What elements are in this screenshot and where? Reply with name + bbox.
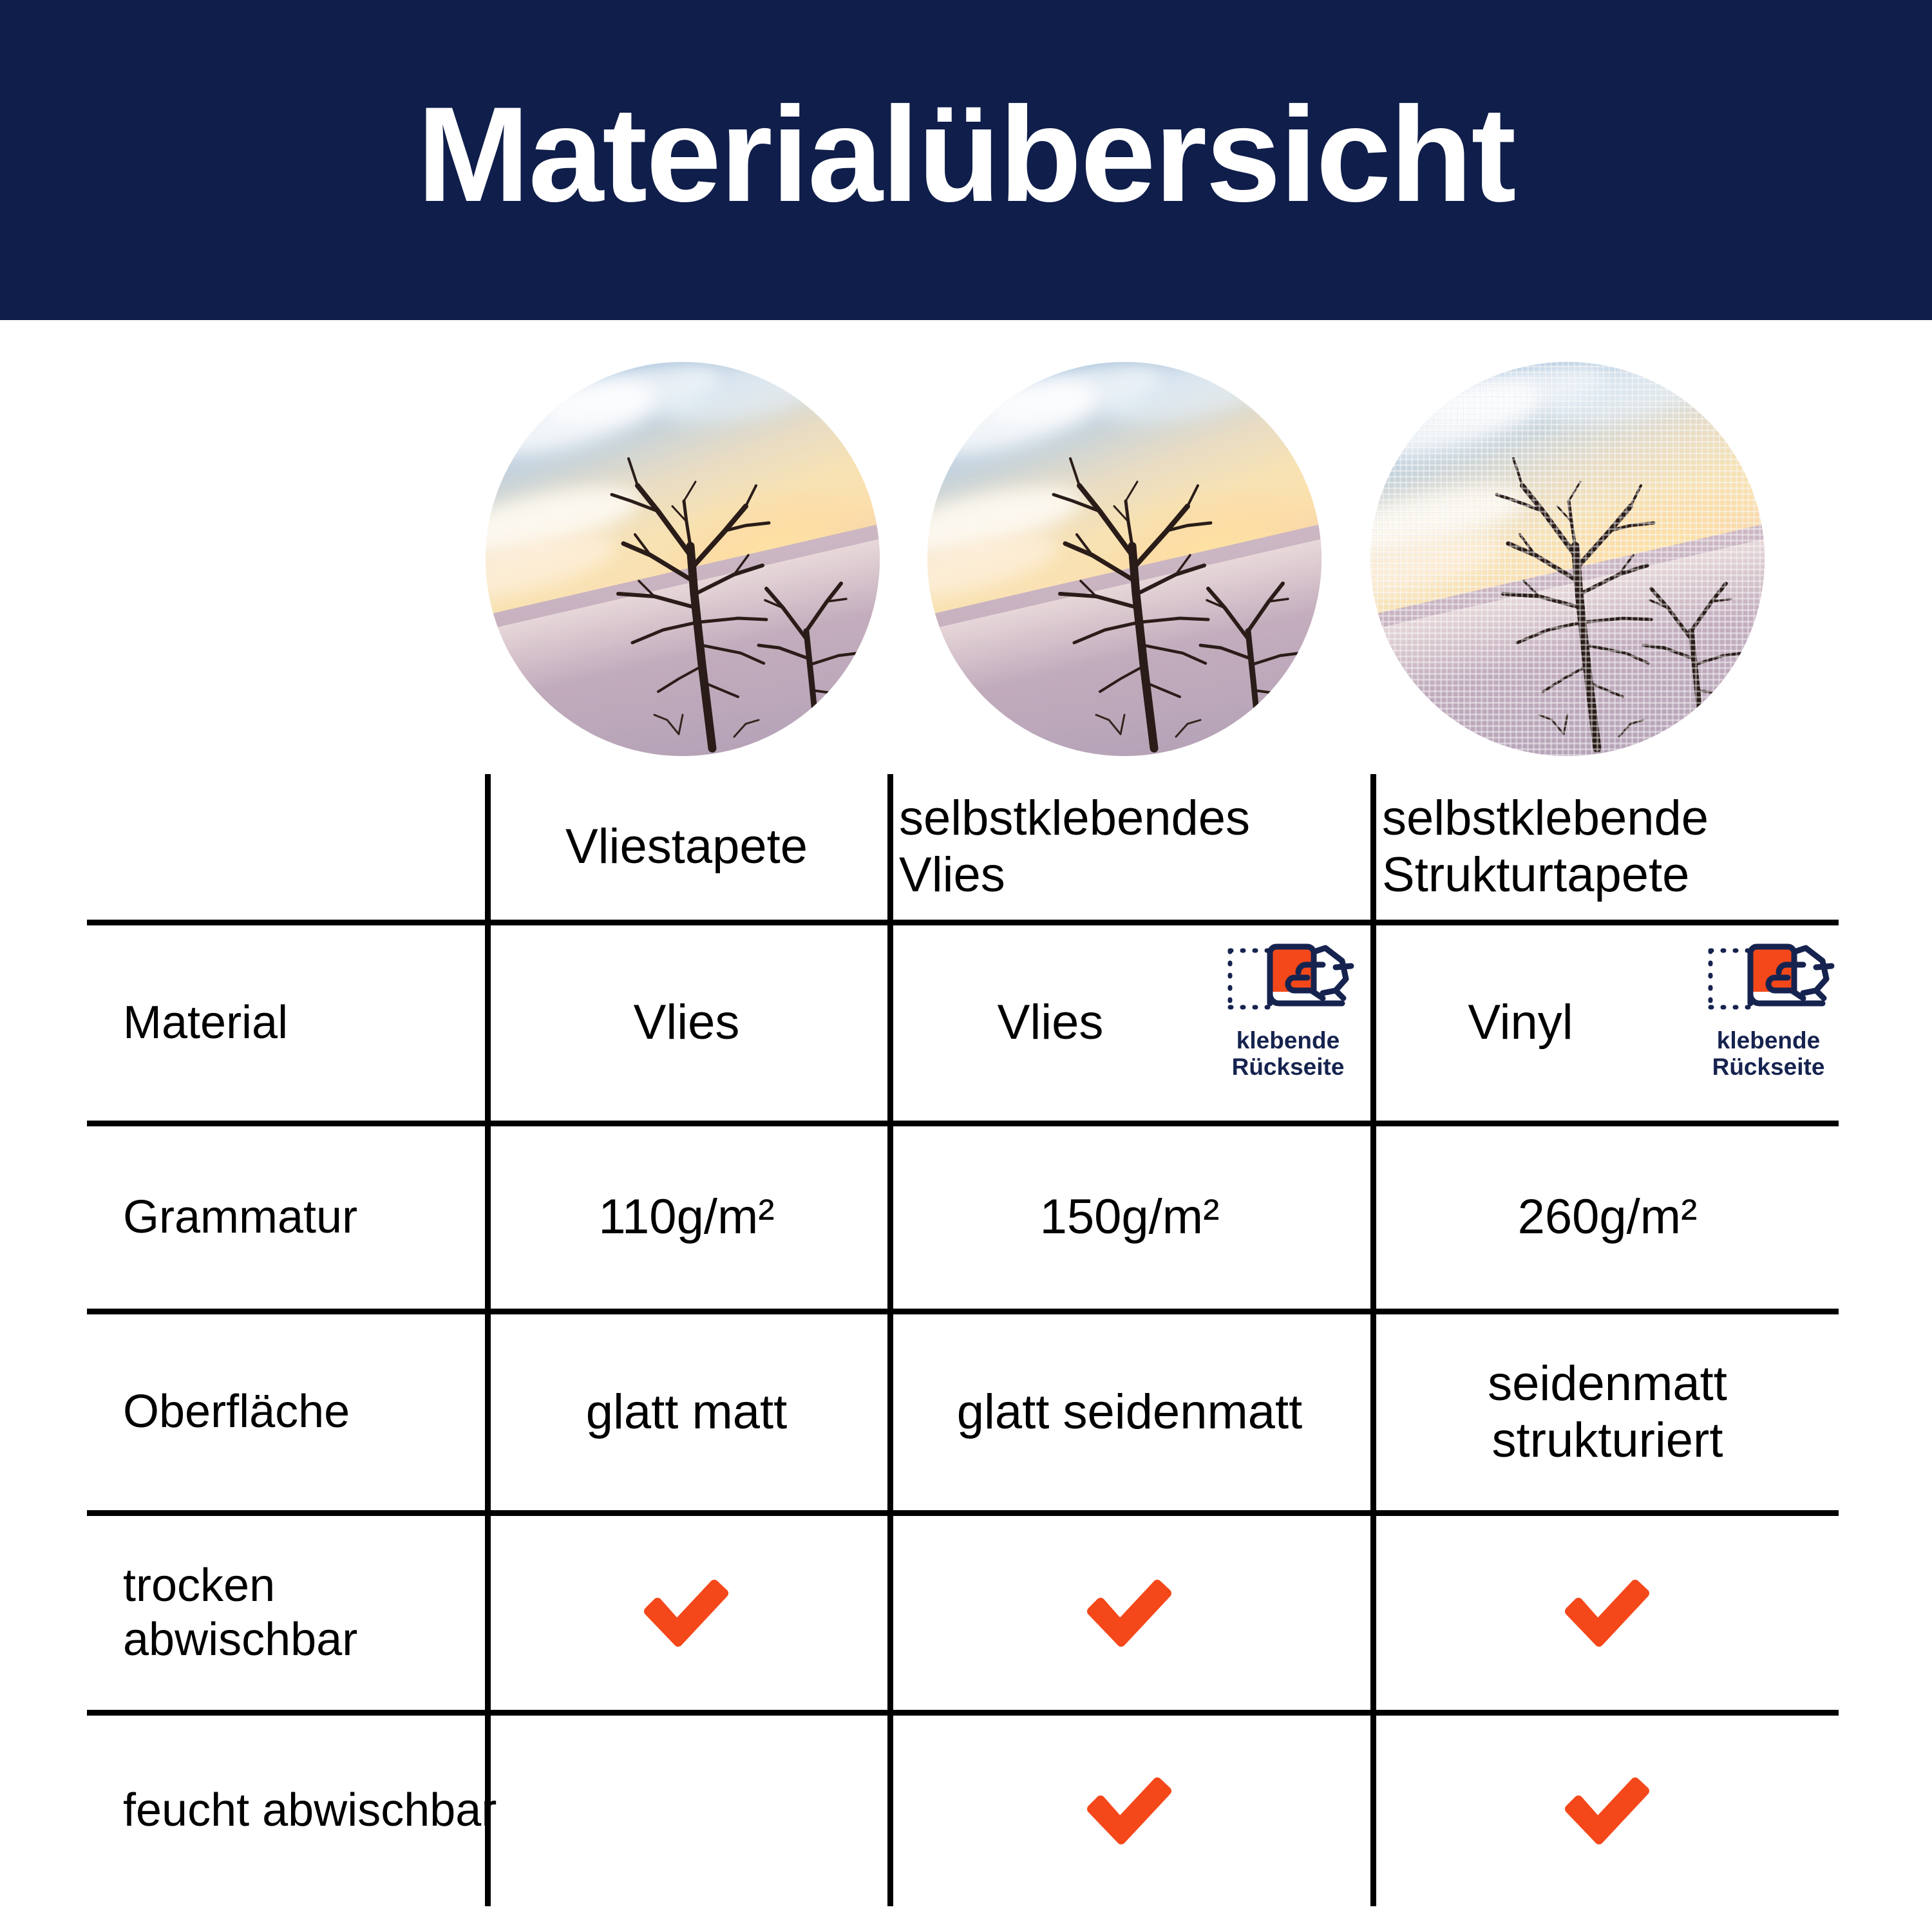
check-icon: [1081, 1769, 1178, 1853]
cell-trocken-vliestapete: [489, 1516, 884, 1710]
row-divider-trocken: [87, 1710, 1839, 1716]
cell-value: glatt matt: [586, 1384, 788, 1441]
column-header-label: selbstklebende Strukturtapete: [1382, 790, 1833, 904]
row-label-text: Oberfläche: [123, 1385, 350, 1439]
woven-texture-overlay: [1370, 362, 1765, 756]
check-icon: [638, 1571, 735, 1655]
page-title: Materialübersicht: [417, 87, 1515, 234]
cell-trocken-selbstklebendes-vlies: [893, 1516, 1367, 1710]
row-label-feucht-abwischbar: feucht abwischbar: [87, 1716, 521, 1906]
badge-caption-line2: Rückseite: [1712, 1054, 1825, 1080]
column-header-vliestapete: Vliestapete: [489, 776, 884, 918]
check-icon: [1559, 1571, 1656, 1655]
row-label-text: trocken abwischbar: [123, 1559, 521, 1667]
cell-value: 260g/m²: [1518, 1189, 1698, 1245]
cell-value: Vinyl: [1468, 994, 1573, 1051]
check-icon: [1559, 1769, 1656, 1853]
cell-trocken-selbstklebende-strukturtapete: [1376, 1516, 1839, 1710]
check-icon: [1081, 1571, 1178, 1655]
row-label-text: Material: [123, 996, 288, 1050]
row-label-text: feucht abwischbar: [123, 1784, 497, 1838]
page-header-banner: Materialübersicht: [0, 0, 1932, 320]
cell-material-vliestapete: Vlies: [489, 925, 884, 1121]
cell-feucht-selbstklebende-strukturtapete: [1376, 1716, 1839, 1906]
sample-circle-selbstklebende-strukturtapete: [1370, 362, 1765, 756]
cell-feucht-vliestapete: [489, 1716, 884, 1906]
cell-value: glatt seidenmatt: [957, 1384, 1303, 1441]
peeling-sheet-hand-icon: [1696, 939, 1841, 1022]
badge-caption-line1: klebende: [1236, 1027, 1340, 1054]
row-divider-grammatur: [87, 1309, 1839, 1314]
row-label-trocken-abwischbar: trocken abwischbar: [87, 1516, 521, 1710]
adhesive-backing-badge: klebende Rückseite: [1216, 939, 1360, 1081]
cell-value: 150g/m²: [1040, 1189, 1220, 1245]
badge-caption-line1: klebende: [1717, 1027, 1820, 1054]
row-divider-header: [87, 920, 1839, 925]
column-header-selbstklebendes-vlies: selbstklebendes Vlies: [899, 776, 1363, 918]
sample-circle-selbstklebendes-vlies: [927, 362, 1321, 756]
badge-caption: klebende Rückseite: [1712, 1027, 1825, 1081]
cell-material-selbstklebende-strukturtapete: Vinyl: [1376, 925, 1665, 1121]
cell-material-selbstklebendes-vlies: Vlies: [893, 925, 1208, 1121]
row-label-grammatur: Grammatur: [87, 1126, 521, 1309]
row-label-material: Material: [87, 925, 521, 1121]
cell-feucht-selbstklebendes-vlies: [893, 1716, 1367, 1906]
badge-caption: klebende Rückseite: [1232, 1027, 1345, 1081]
cell-oberflaeche-selbstklebende-strukturtapete: seidenmatt strukturiert: [1376, 1314, 1839, 1510]
cell-grammatur-selbstklebende-strukturtapete: 260g/m²: [1376, 1126, 1839, 1309]
row-divider-material: [87, 1121, 1839, 1126]
cell-value: 110g/m²: [598, 1189, 774, 1245]
adhesive-backing-badge: klebende Rückseite: [1696, 939, 1841, 1081]
cell-value: Vlies: [998, 994, 1104, 1051]
column-header-label: selbstklebendes Vlies: [899, 790, 1363, 904]
bare-tree-silhouette: [927, 362, 1321, 756]
column-divider-1: [485, 774, 491, 1906]
column-divider-2: [887, 774, 893, 1906]
column-divider-3: [1370, 774, 1376, 1906]
badge-caption-line2: Rückseite: [1232, 1054, 1345, 1080]
column-header-label: Vliestapete: [565, 819, 808, 875]
cell-oberflaeche-vliestapete: glatt matt: [489, 1314, 884, 1510]
cell-value: Vlies: [634, 994, 740, 1051]
column-header-selbstklebende-strukturtapete: selbstklebende Strukturtapete: [1382, 776, 1833, 918]
row-label-text: Grammatur: [123, 1191, 357, 1245]
sample-circle-vliestapete: [486, 362, 880, 756]
bare-tree-silhouette: [486, 362, 880, 756]
row-divider-oberflaeche: [87, 1510, 1839, 1516]
row-label-oberflaeche: Oberfläche: [87, 1314, 521, 1510]
peeling-sheet-hand-icon: [1216, 939, 1360, 1022]
cell-oberflaeche-selbstklebendes-vlies: glatt seidenmatt: [893, 1314, 1367, 1510]
cell-grammatur-vliestapete: 110g/m²: [489, 1126, 884, 1309]
cell-grammatur-selbstklebendes-vlies: 150g/m²: [893, 1126, 1367, 1309]
cell-value: seidenmatt strukturiert: [1401, 1356, 1814, 1469]
